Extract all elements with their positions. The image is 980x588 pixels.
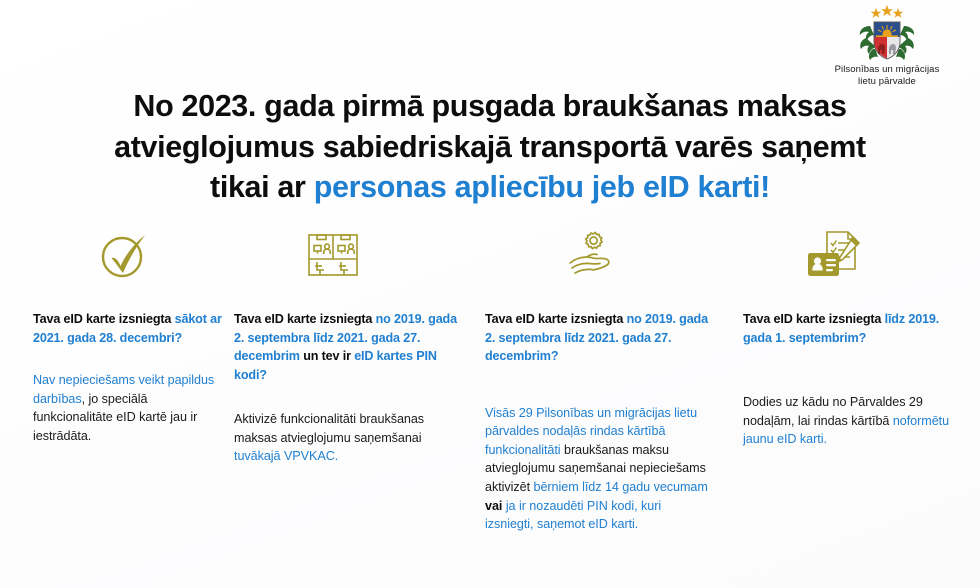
- column-2-icon-wrap: [234, 222, 459, 288]
- agency-name-label: Pilsonības un migrācijas lietu pārvalde: [812, 64, 962, 88]
- column-4-heading: Tava eID karte izsniegta līdz 2019. gada…: [743, 310, 958, 347]
- column-2-body: Aktivizē funkcionalitāti braukšanas maks…: [234, 410, 459, 466]
- page-headline: No 2023. gada pirmā pusgada braukšanas m…: [50, 86, 930, 208]
- hand-holding-gear-icon: [563, 230, 619, 280]
- headline-line-2: atvieglojumus sabiedriskajā transportā v…: [114, 130, 866, 164]
- office-floor-plan-icon: [304, 230, 362, 280]
- info-column-1: Tava eID karte izsniegta sākot ar 2021. …: [33, 222, 229, 446]
- check-mark-circle-icon: [99, 230, 153, 280]
- column-4-heading-plain: Tava eID karte izsniegta: [743, 312, 885, 326]
- column-3-heading: Tava eID karte izsniegta no 2019. gada 2…: [485, 310, 713, 366]
- headline-line-1: No 2023. gada pirmā pusgada braukšanas m…: [133, 89, 846, 123]
- info-column-3: Tava eID karte izsniegta no 2019. gada 2…: [485, 222, 713, 534]
- column-3-body: Visās 29 Pilsonības un migrācijas lietu …: [485, 404, 713, 534]
- agency-name-line-1: Pilsonības un migrācijas: [835, 64, 940, 75]
- column-2-body-plain-1: Aktivizē funkcionalitāti braukšanas maks…: [234, 412, 424, 445]
- headline-line-3-accent: personas apliecību jeb eID karti!: [314, 170, 770, 204]
- column-1-heading: Tava eID karte izsniegta sākot ar 2021. …: [33, 310, 229, 347]
- column-3-body-accent-2: bērniem līdz 14 gadu vecumam: [534, 480, 708, 494]
- column-3-body-strong: vai: [485, 499, 506, 513]
- info-column-4: Tava eID karte izsniegta līdz 2019. gada…: [743, 222, 958, 449]
- column-2-heading: Tava eID karte izsniegta no 2019. gada 2…: [234, 310, 459, 384]
- column-4-body: Dodies uz kādu no Pārvaldes 29 nodaļām, …: [743, 393, 958, 449]
- column-1-body: Nav nepieciešams veikt papildus darbības…: [33, 371, 229, 446]
- column-3-body-accent-3: ja ir nozaudēti PIN kodi, kuri izsniegti…: [485, 499, 661, 532]
- column-4-icon-wrap: [743, 222, 958, 288]
- column-1-icon-wrap: [33, 222, 229, 288]
- column-2-heading-plain-2: un tev ir: [300, 349, 354, 363]
- column-1-heading-plain: Tava eID karte izsniegta: [33, 312, 175, 326]
- column-3-heading-plain: Tava eID karte izsniegta: [485, 312, 627, 326]
- info-columns: Tava eID karte izsniegta sākot ar 2021. …: [0, 222, 980, 588]
- latvian-coat-of-arms-icon: [856, 4, 918, 62]
- column-2-heading-plain-1: Tava eID karte izsniegta: [234, 312, 376, 326]
- agency-logo-block: Pilsonības un migrācijas lietu pārvalde: [812, 4, 962, 88]
- headline-line-3-plain: tikai ar: [210, 170, 314, 204]
- column-2-body-accent-1: tuvākajā VPVKAC.: [234, 449, 338, 463]
- id-card-application-icon: [805, 229, 863, 281]
- column-3-icon-wrap: [485, 222, 713, 288]
- info-column-2: Tava eID karte izsniegta no 2019. gada 2…: [234, 222, 459, 466]
